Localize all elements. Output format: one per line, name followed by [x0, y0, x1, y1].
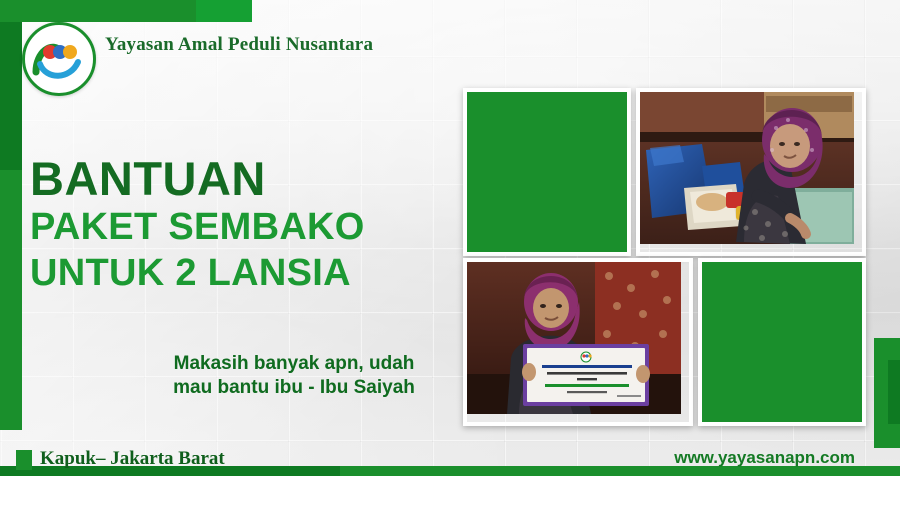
decor-left-bar-dark — [0, 0, 22, 170]
website-url[interactable]: www.yayasanapn.com — [674, 448, 855, 468]
photo-woman-holding-donation-certificate — [463, 258, 693, 426]
headline-line-2: PAKET SEMBAKO — [30, 208, 480, 246]
decor-top-bar-accent — [196, 0, 252, 22]
photo-elderly-woman-with-parcels-artwork — [640, 92, 854, 244]
photo-placeholder-bottom-right — [698, 258, 866, 426]
location-marker-icon — [16, 450, 32, 470]
photo-placeholder-top-left — [463, 88, 631, 256]
organization-name: Yayasan Amal Peduli Nusantara — [105, 34, 373, 56]
photo-elderly-woman-with-parcels — [636, 88, 866, 256]
headline-line-1: BANTUAN — [30, 155, 480, 202]
quote-line-1: Makasih banyak apn, udah — [124, 352, 464, 376]
apn-monogram-icon — [22, 22, 96, 96]
footer-white-strip — [0, 476, 900, 506]
quote-line-2: mau bantu ibu - Ibu Saiyah — [124, 376, 464, 400]
headline-group: BANTUAN PAKET SEMBAKO UNTUK 2 LANSIA — [30, 155, 480, 292]
headline-line-3: UNTUK 2 LANSIA — [30, 254, 480, 292]
testimonial-quote: Makasih banyak apn, udah mau bantu ibu -… — [124, 352, 464, 400]
location-label: Kapuk– Jakarta Barat — [40, 448, 225, 470]
photo-woman-holding-certificate-artwork — [467, 262, 681, 414]
decor-top-bar — [0, 0, 215, 22]
decor-right-block-dark — [888, 360, 900, 424]
logo — [22, 22, 96, 96]
poster-canvas: Yayasan Amal Peduli Nusantara BANTUAN PA… — [0, 0, 900, 506]
